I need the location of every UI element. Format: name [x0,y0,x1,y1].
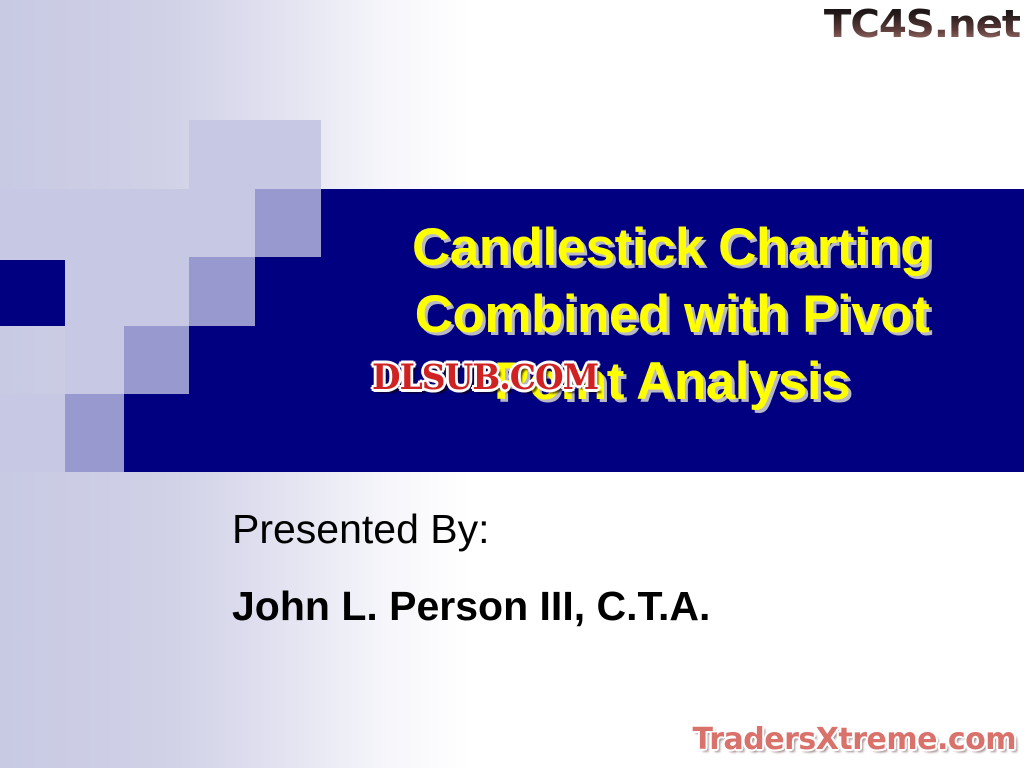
presentation-slide: Candlestick Charting Combined with Pivot… [0,0,1024,768]
watermark-dlsub: DLSUB.COM [372,358,598,398]
mosaic-square-light [189,120,255,189]
watermark-tc4s: TC4S.net [824,1,1020,47]
watermark-tradersxtreme: TradersXtreme.com [693,722,1016,758]
mosaic-square-mid [65,394,124,472]
mosaic-square-mid [189,257,255,326]
mosaic-square-light [0,189,65,257]
mosaic-square-mid [124,326,189,394]
title-band-step-2 [255,257,1024,326]
mosaic-square-light [255,120,321,189]
mosaic-square-light [65,257,124,326]
mosaic-square-light [124,189,189,257]
mosaic-square-mid [255,189,321,257]
mosaic-square-light [65,189,124,257]
title-band-step-4 [124,394,1024,472]
author-name: John L. Person III, C.T.A. [232,580,710,632]
mosaic-square-light [65,326,124,394]
presenter-block: Presented By: John L. Person III, C.T.A. [232,503,710,632]
presented-by-label: Presented By: [232,503,710,555]
mosaic-square-light [0,394,65,472]
title-band-step-3 [189,326,1024,394]
mosaic-square-light [124,257,189,326]
title-band-step-1 [321,189,1024,257]
mosaic-square-light [189,189,255,257]
mosaic-square-navy [0,260,65,326]
